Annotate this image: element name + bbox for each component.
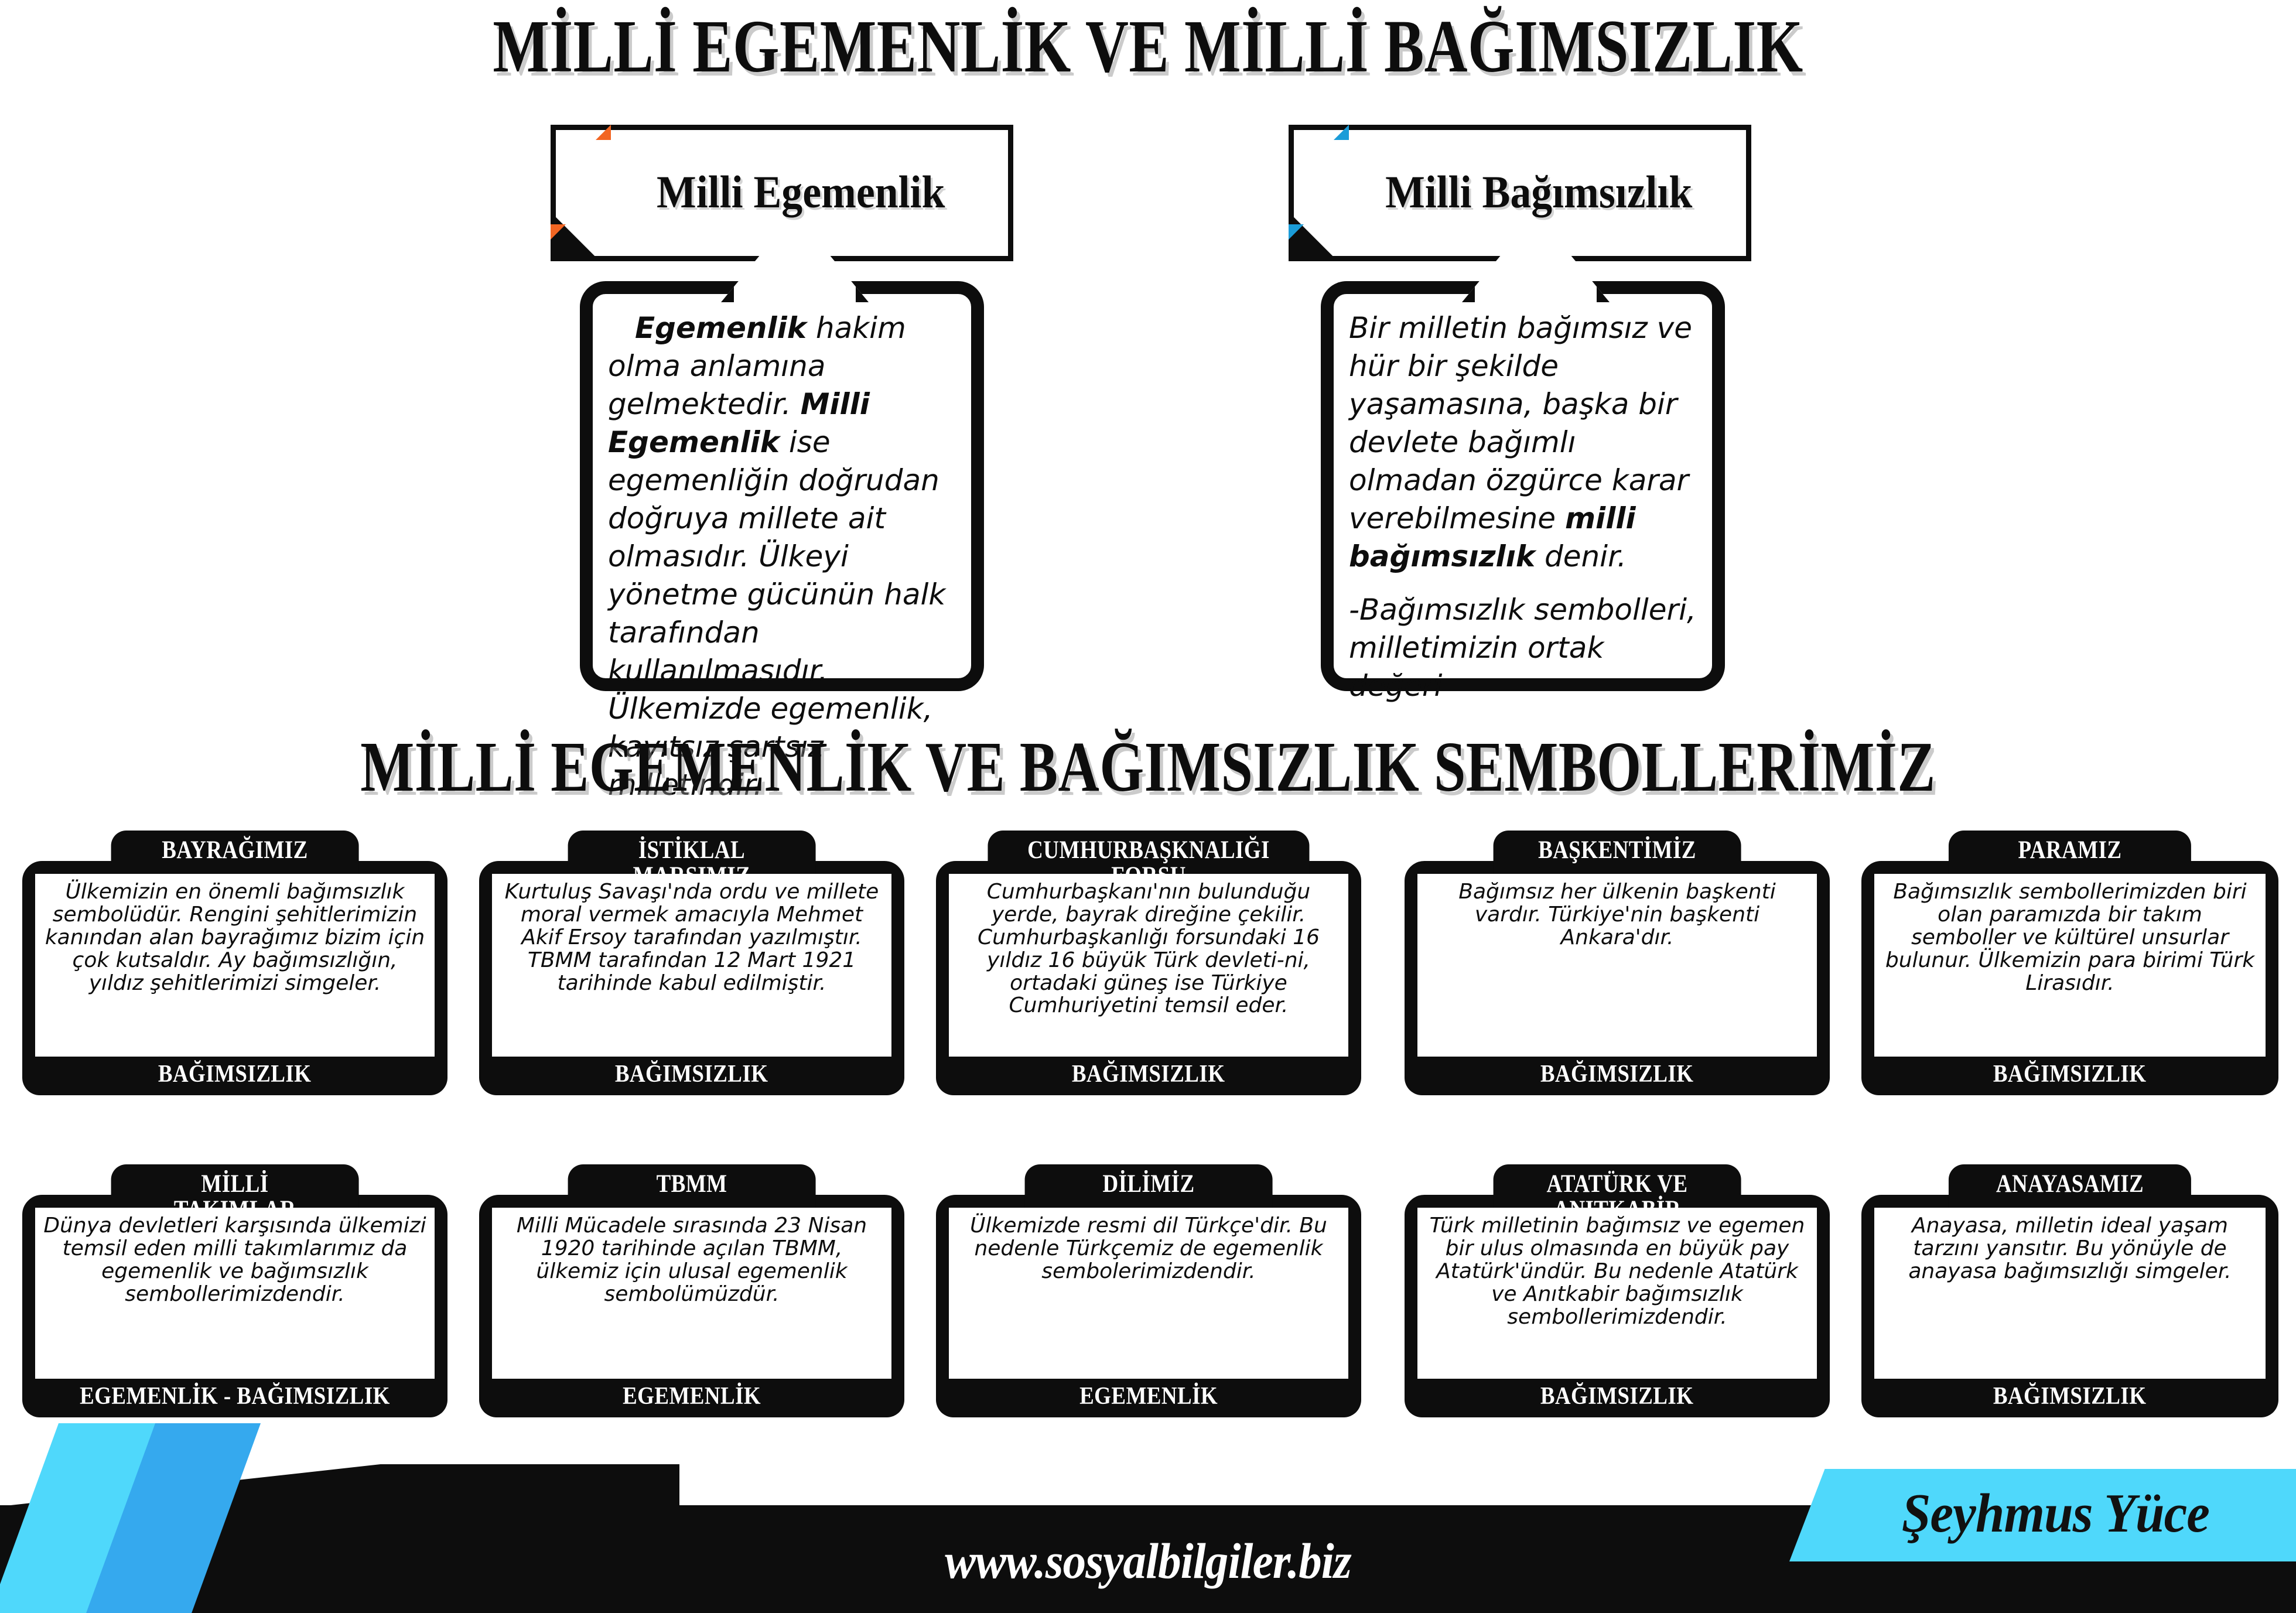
infographic-page: MİLLİ EGEMENLİK VE MİLLİ BAĞIMSIZLIK Mil… (0, 0, 2296, 1613)
header-box-label: Milli Bağımsızlık (1312, 166, 1728, 218)
card-footer-label: EGEMENLİK (623, 1382, 761, 1410)
card-title: ANAYASAMIZ (1983, 1171, 2157, 1197)
card-footer: BAĞIMSIZLIK (936, 1057, 1361, 1095)
card-footer-label: EGEMENLİK - BAĞIMSIZLIK (80, 1382, 390, 1410)
card-body: Anayasa, milletin ideal yaşam tarzını ya… (1874, 1208, 2266, 1401)
card-title: PARAMIZ (1983, 838, 2157, 863)
bubble-text: Bir milletin bağımsız ve hür bir şekilde… (1334, 294, 1712, 711)
symbol-card[interactable]: BAYRAĞIMIZ Ülkemizin en önemli bağımsızl… (22, 861, 447, 1095)
symbol-card[interactable]: BAŞKENTİMİZ Bağımsız her ülkenin başkent… (1405, 861, 1830, 1095)
card-footer: BAĞIMSIZLIK (1861, 1379, 2278, 1417)
symbol-card[interactable]: ANAYASAMIZ Anayasa, milletin ideal yaşam… (1861, 1195, 2278, 1417)
card-footer: BAĞIMSIZLIK (22, 1057, 447, 1095)
card-footer-label: BAĞIMSIZLIK (158, 1060, 312, 1088)
symbol-card[interactable]: PARAMIZ Bağımsızlık sembollerimizden bir… (1861, 861, 2278, 1095)
card-body: Bağımsızlık sembollerimizden biri olan p… (1874, 874, 2266, 1067)
card-footer-label: BAĞIMSIZLIK (1540, 1382, 1694, 1410)
card-body: Türk milletinin bağımsız ve egemen bir u… (1417, 1208, 1817, 1401)
card-title: BAYRAĞIMIZ (145, 838, 324, 863)
symbols-section-title: MİLLİ EGEMENLİK VE BAĞIMSIZLIK SEMBOLLER… (230, 726, 2066, 808)
card-title: DİLİMİZ (1059, 1171, 1238, 1197)
card-footer-label: BAĞIMSIZLIK (1993, 1382, 2147, 1410)
card-body: Ülkemizde resmi dil Türkçe'dir. Bu neden… (949, 1208, 1348, 1401)
definition-bubble-egemenlik: Egemenlik hakim olma anlamına gelmektedi… (580, 281, 984, 691)
page-title: MİLLİ EGEMENLİK VE MİLLİ BAĞIMSIZLIK (230, 4, 2066, 90)
definition-bubble-bagimsizlik: Bir milletin bağımsız ve hür bir şekilde… (1321, 281, 1725, 691)
card-body: Bağımsız her ülkenin başkenti vardır. Tü… (1417, 874, 1817, 1067)
card-body: Dünya devletleri karşısında ülkemizi tem… (35, 1208, 435, 1401)
card-footer-label: BAĞIMSIZLIK (1993, 1060, 2147, 1088)
card-footer-label: BAĞIMSIZLIK (1540, 1060, 1694, 1088)
card-footer: EGEMENLİK - BAĞIMSIZLIK (22, 1379, 447, 1417)
accent-triangle-bottom-blue (1289, 224, 1304, 240)
symbol-card[interactable]: İSTİKLAL MARŞIMIZ Kurtuluş Savaşı'nda or… (479, 861, 904, 1095)
symbol-card[interactable]: MİLLİ TAKIMLAR Dünya devletleri karşısın… (22, 1195, 447, 1417)
card-title: TBMM (602, 1171, 781, 1197)
card-footer-label: BAĞIMSIZLIK (1072, 1060, 1225, 1088)
symbol-card[interactable]: TBMM Milli Mücadele sırasında 23 Nisan 1… (479, 1195, 904, 1417)
accent-triangle-bottom-orange (551, 224, 566, 240)
card-footer: BAĞIMSIZLIK (479, 1057, 904, 1095)
card-footer: EGEMENLİK (936, 1379, 1361, 1417)
header-box-label: Milli Egemenlik (574, 166, 990, 218)
accent-triangle-top-orange (596, 125, 611, 140)
card-body: Kurtuluş Savaşı'nda ordu ve millete mora… (492, 874, 891, 1067)
accent-triangle-top-blue (1334, 125, 1349, 140)
symbol-card[interactable]: ATATÜRK VE ANITKABİR Türk milletinin bağ… (1405, 1195, 1830, 1417)
card-footer: BAĞIMSIZLIK (1861, 1057, 2278, 1095)
signature-text: Şeyhmus Yüce (1802, 1469, 2284, 1545)
card-footer: BAĞIMSIZLIK (1405, 1057, 1830, 1095)
card-body: Ülkemizin en önemli bağımsızlık sembolüd… (35, 874, 435, 1067)
card-footer-label: BAĞIMSIZLIK (615, 1060, 768, 1088)
card-body: Cumhurbaşkanı'nın bulunduğu yerde, bayra… (949, 874, 1348, 1067)
card-footer-label: EGEMENLİK (1079, 1382, 1218, 1410)
symbol-card[interactable]: DİLİMİZ Ülkemizde resmi dil Türkçe'dir. … (936, 1195, 1361, 1417)
card-body: Milli Mücadele sırasında 23 Nisan 1920 t… (492, 1208, 891, 1401)
card-footer: BAĞIMSIZLIK (1405, 1379, 1830, 1417)
signature-banner: Şeyhmus Yüce (1789, 1469, 2296, 1561)
symbol-card[interactable]: CUMHURBAŞKNALIĞI FORSU Cumhurbaşkanı'nın… (936, 861, 1361, 1095)
card-footer: EGEMENLİK (479, 1379, 904, 1417)
card-title: BAŞKENTİMİZ (1528, 838, 1706, 863)
